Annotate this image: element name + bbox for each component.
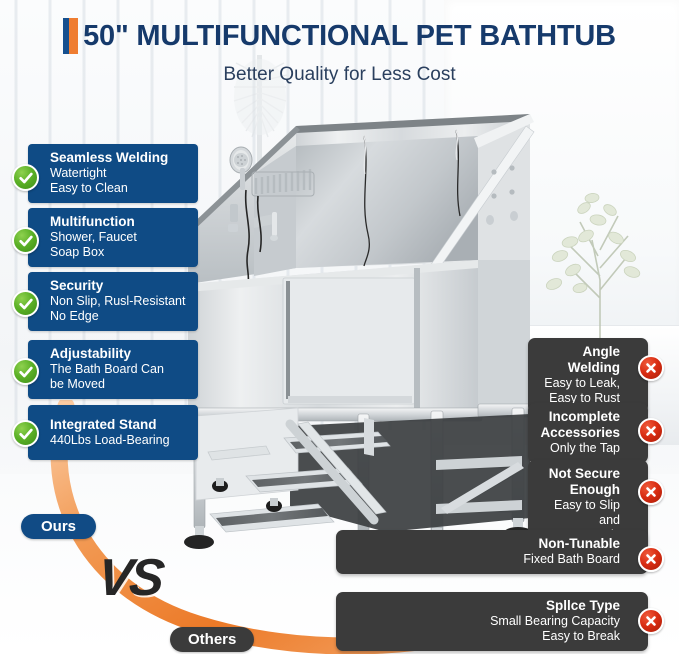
feature-line: The Bath Board Can [50,362,190,377]
feature-card-pro-1[interactable]: Seamless Welding Watertight Easy to Clea… [28,144,198,203]
check-circle-icon [12,227,39,254]
cross-circle-icon [638,479,664,505]
feature-title: Multifunction [50,214,190,230]
drawback-title: Non-Tunable [346,536,620,552]
check-circle-icon [12,420,39,447]
feature-card-pro-2[interactable]: Multifunction Shower, Faucet Soap Box [28,208,198,267]
feature-line: Watertight [50,166,190,181]
check-circle-icon [12,164,39,191]
drawback-line: Fixed Bath Board [346,552,620,567]
drawback-card-con-4[interactable]: Non-Tunable Fixed Bath Board [336,530,648,574]
accent-orange-stripe [69,18,78,54]
check-circle-icon [12,358,39,385]
feature-line: Easy to Clean [50,181,190,196]
drawback-card-con-5[interactable]: Spllce Type Small Bearing Capacity Easy … [336,592,648,651]
page-title: 50" MULTIFUNCTIONAL PET BATHTUB [83,20,616,53]
drawback-line: Easy to Break [346,629,620,644]
vs-label: VS [95,548,165,608]
drawback-line: Only the Tap [538,441,620,456]
feature-card-pro-4[interactable]: Adjustability The Bath Board Can be Move… [28,340,198,399]
drawback-title: Incomplete Accessories [538,409,620,441]
drawback-title: Spllce Type [346,598,620,614]
feature-line: 440Lbs Load-Bearing [50,433,190,448]
feature-title: Seamless Welding [50,150,190,166]
others-label-pill: Others [170,627,254,652]
cross-circle-icon [638,418,664,444]
potted-plant-decor-icon [540,180,660,350]
drawback-title: Angle Welding [538,344,620,376]
ours-label-pill: Ours [21,514,96,539]
drawback-card-con-2[interactable]: Incomplete Accessories Only the Tap [528,403,648,463]
cross-circle-icon [638,546,664,572]
feature-card-pro-3[interactable]: Security Non Slip, Rusl-Resistant No Edg… [28,272,198,331]
feature-title: Security [50,278,190,294]
feature-title: Integrated Stand [50,417,190,433]
feature-card-pro-5[interactable]: Integrated Stand 440Lbs Load-Bearing [28,405,198,460]
drawback-title: Not Secure Enough [538,466,620,498]
check-circle-icon [12,290,39,317]
infographic-canvas: Seamless Welding Watertight Easy to Clea… [0,0,679,654]
drawback-line: Easy to Slip and [538,498,620,528]
drawback-card-con-1[interactable]: Angle Welding Easy to Leak, Easy to Rust [528,338,648,413]
feature-line: Shower, Faucet [50,230,190,245]
feature-line: No Edge [50,309,190,324]
feature-line: Non Slip, Rusl-Resistant [50,294,190,309]
cross-circle-icon [638,355,664,381]
feature-line: Soap Box [50,245,190,260]
title-block: 50" MULTIFUNCTIONAL PET BATHTUB [0,18,679,59]
cross-circle-icon [638,608,664,634]
page-subtitle: Better Quality for Less Cost [0,64,679,86]
title-accent-bar [63,18,78,54]
feature-title: Adjustability [50,346,190,362]
feature-line: be Moved [50,377,190,392]
drawback-line: Easy to Leak, [538,376,620,391]
drawback-line: Small Bearing Capacity [346,614,620,629]
